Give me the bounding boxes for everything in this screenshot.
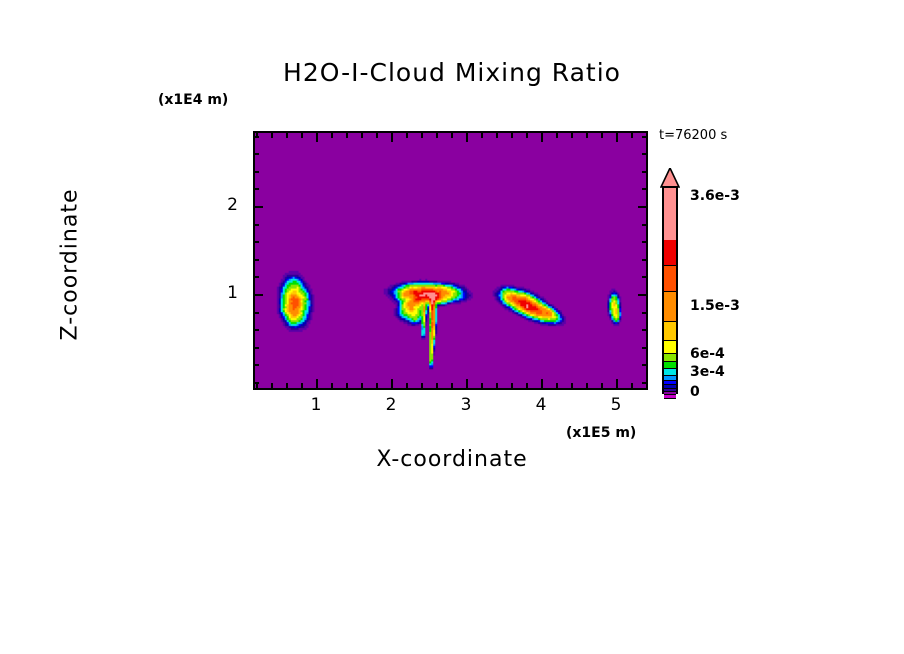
x-axis-minor-tick-top <box>421 133 423 138</box>
colorbar-band-2.1e-3 <box>664 266 676 292</box>
x-axis-minor-tick-top <box>331 133 333 138</box>
y-axis-minor-tick <box>254 136 259 138</box>
colorbar-band-3.6e-3-above <box>664 188 676 240</box>
y-axis-minor-tick <box>254 382 259 384</box>
scalar-field-canvas <box>255 133 646 388</box>
y-axis-minor-tick-right <box>642 312 647 314</box>
colorbar-tick-label: 0 <box>690 384 700 400</box>
y-axis-title: Z-coordinate <box>58 125 83 405</box>
y-axis-major-tick-right <box>638 206 647 208</box>
x-axis-minor-tick <box>376 383 378 388</box>
y-axis-tick-label: 1 <box>218 283 238 303</box>
x-axis-tick-label: 5 <box>601 395 631 415</box>
x-axis-minor-tick <box>331 383 333 388</box>
x-axis-major-tick-top <box>541 133 543 142</box>
x-axis-minor-tick <box>481 383 483 388</box>
x-axis-minor-tick-top <box>556 133 558 138</box>
x-axis-tick-label: 3 <box>451 395 481 415</box>
colorbar-band-6e-4 <box>664 354 676 362</box>
y-axis-major-tick-right <box>638 294 647 296</box>
y-axis-minor-tick-right <box>642 188 647 190</box>
colorbar-band-3e-4 <box>664 369 676 376</box>
x-axis-minor-tick-top <box>526 133 528 138</box>
x-axis-major-tick-top <box>391 133 393 142</box>
y-axis-minor-tick <box>254 329 259 331</box>
x-axis-major-tick <box>541 379 543 388</box>
page-title: H2O-I-Cloud Mixing Ratio <box>0 58 904 87</box>
x-axis-minor-tick <box>511 383 513 388</box>
x-axis-minor-tick-top <box>436 133 438 138</box>
x-axis-title: X-coordinate <box>0 447 904 472</box>
y-axis-minor-tick-right <box>642 347 647 349</box>
y-axis-minor-tick-right <box>642 329 647 331</box>
x-axis-minor-tick <box>361 383 363 388</box>
y-axis-multiplier-label: (x1E4 m) <box>158 92 228 108</box>
y-axis-minor-tick-right <box>642 364 647 366</box>
x-axis-major-tick <box>466 379 468 388</box>
colorbar-tick-label: 3e-4 <box>690 364 725 380</box>
x-axis-minor-tick <box>346 383 348 388</box>
y-axis-minor-tick-right <box>642 171 647 173</box>
x-axis-minor-tick <box>436 383 438 388</box>
y-axis-minor-tick-right <box>642 382 647 384</box>
y-axis-minor-tick <box>254 276 259 278</box>
x-axis-major-tick-top <box>466 133 468 142</box>
colorbar-band-4.5e-4 <box>664 362 676 369</box>
colorbar-tick-label: 3.6e-3 <box>690 188 740 204</box>
y-axis-minor-tick-right <box>642 241 647 243</box>
timestamp-annotation: t=76200 s <box>659 128 727 143</box>
x-axis-minor-tick-top <box>601 133 603 138</box>
y-axis-minor-tick <box>254 241 259 243</box>
y-axis-minor-tick <box>254 153 259 155</box>
x-axis-minor-tick <box>451 383 453 388</box>
x-axis-major-tick <box>616 379 618 388</box>
x-axis-minor-tick-top <box>286 133 288 138</box>
x-axis-minor-tick-top <box>361 133 363 138</box>
y-axis-minor-tick <box>254 259 259 261</box>
x-axis-minor-tick <box>526 383 528 388</box>
y-axis-tick-label: 2 <box>218 195 238 215</box>
x-axis-minor-tick <box>406 383 408 388</box>
y-axis-major-tick <box>254 294 263 296</box>
y-axis-minor-tick <box>254 188 259 190</box>
x-axis-minor-tick-top <box>301 133 303 138</box>
colorbar-band-0 <box>664 395 676 399</box>
x-axis-minor-tick-top <box>271 133 273 138</box>
x-axis-minor-tick-top <box>631 133 633 138</box>
x-axis-tick-label: 4 <box>526 395 556 415</box>
x-axis-minor-tick-top <box>511 133 513 138</box>
x-axis-minor-tick <box>421 383 423 388</box>
x-axis-tick-label: 1 <box>301 395 331 415</box>
x-axis-minor-tick <box>286 383 288 388</box>
y-axis-minor-tick-right <box>642 259 647 261</box>
x-axis-minor-tick <box>601 383 603 388</box>
x-axis-minor-tick <box>271 383 273 388</box>
colorbar-band-1.2e-3 <box>664 322 676 341</box>
x-axis-minor-tick <box>586 383 588 388</box>
x-axis-minor-tick-top <box>586 133 588 138</box>
colorbar[interactable] <box>662 186 678 394</box>
colorbar-band-1.5e-3 <box>664 292 676 322</box>
x-axis-minor-tick-top <box>376 133 378 138</box>
x-axis-minor-tick-top <box>346 133 348 138</box>
x-axis-minor-tick-top <box>451 133 453 138</box>
y-axis-minor-tick-right <box>642 224 647 226</box>
figure-canvas: H2O-I-Cloud Mixing Ratio (x1E4 m) t=7620… <box>0 0 904 654</box>
x-axis-minor-tick-top <box>571 133 573 138</box>
colorbar-band-9e-4 <box>664 341 676 354</box>
y-axis-minor-tick <box>254 312 259 314</box>
y-axis-major-tick <box>254 206 263 208</box>
heatmap-plot-area <box>253 131 648 390</box>
y-axis-minor-tick <box>254 347 259 349</box>
colorbar-band-2.7e-3 <box>664 240 676 266</box>
x-axis-minor-tick <box>556 383 558 388</box>
x-axis-minor-tick-top <box>406 133 408 138</box>
y-axis-minor-tick-right <box>642 136 647 138</box>
x-axis-minor-tick-top <box>481 133 483 138</box>
x-axis-major-tick-top <box>616 133 618 142</box>
x-axis-minor-tick-top <box>496 133 498 138</box>
y-axis-minor-tick-right <box>642 276 647 278</box>
y-axis-minor-tick <box>254 224 259 226</box>
y-axis-minor-tick <box>254 364 259 366</box>
colorbar-tick-label: 1.5e-3 <box>690 298 740 314</box>
x-axis-minor-tick <box>571 383 573 388</box>
x-axis-major-tick <box>316 379 318 388</box>
x-axis-major-tick <box>391 379 393 388</box>
y-axis-minor-tick-right <box>642 153 647 155</box>
colorbar-extend-arrow <box>660 168 680 188</box>
x-axis-minor-tick <box>496 383 498 388</box>
colorbar-tick-label: 6e-4 <box>690 346 725 362</box>
y-axis-minor-tick <box>254 171 259 173</box>
x-axis-multiplier-label: (x1E5 m) <box>566 425 636 441</box>
x-axis-minor-tick <box>631 383 633 388</box>
x-axis-major-tick-top <box>316 133 318 142</box>
x-axis-tick-label: 2 <box>376 395 406 415</box>
x-axis-minor-tick <box>301 383 303 388</box>
